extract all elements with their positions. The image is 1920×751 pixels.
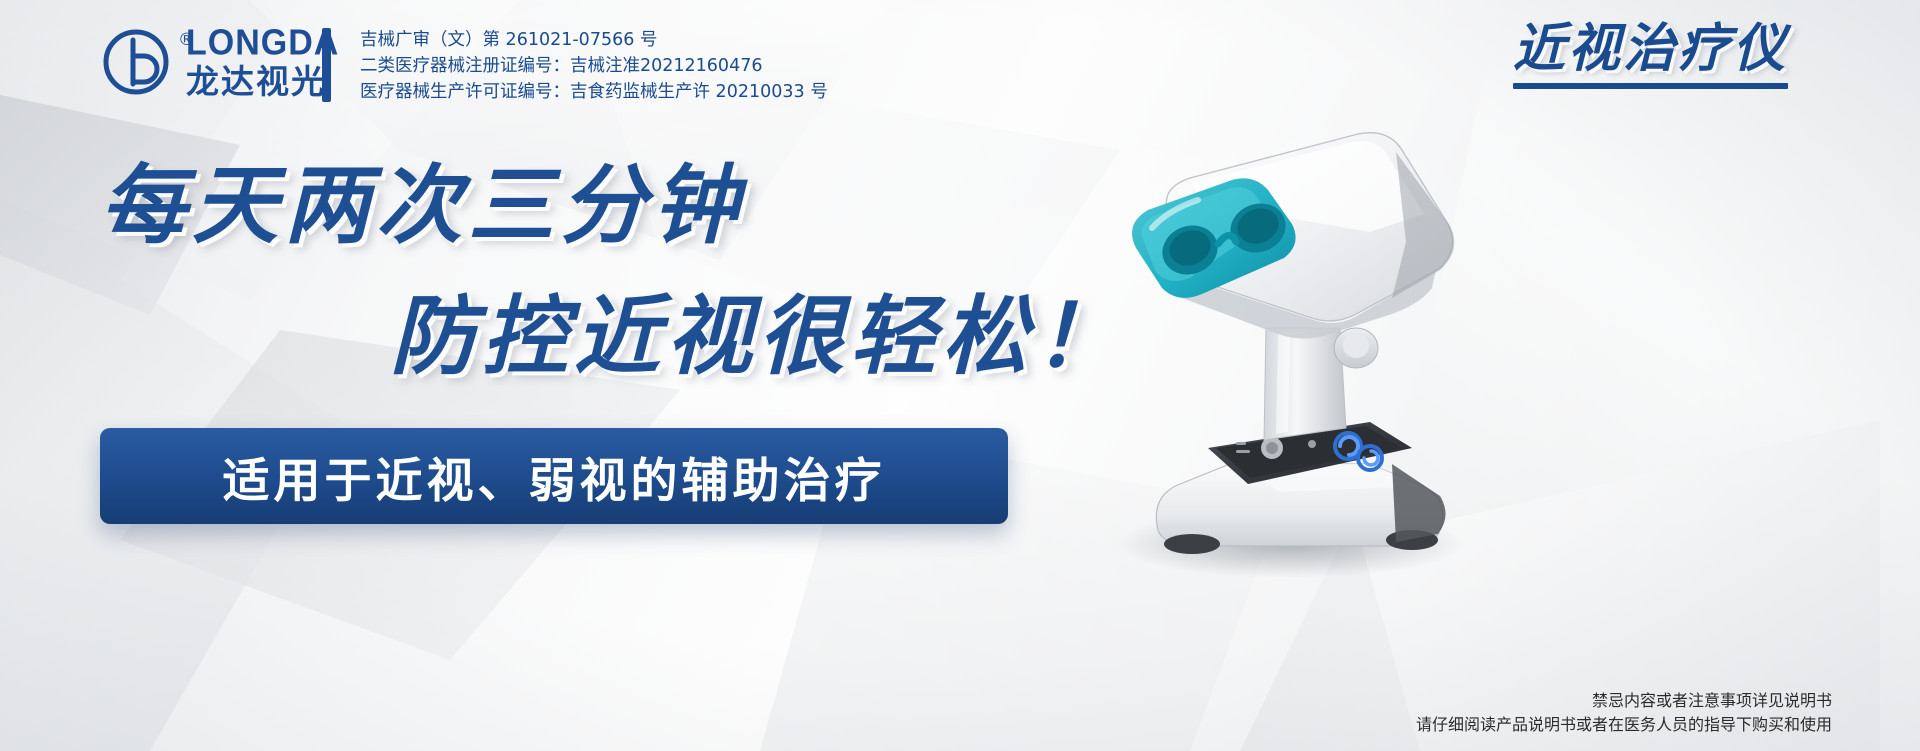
product-title: 近视治疗仪	[1513, 22, 1788, 77]
brand-name-en: LONGDA	[186, 25, 339, 61]
headline-block: 每天两次三分钟 防控近视很轻松！	[0, 160, 1060, 384]
product-title-block: 近视治疗仪	[1513, 22, 1788, 89]
disclaimer-line-2: 请仔细阅读产品说明书或者在医务人员的指导下购买和使用	[1416, 713, 1832, 737]
product-title-underline	[1513, 83, 1788, 89]
disclaimer-line-1: 禁忌内容或者注意事项详见说明书	[1416, 689, 1832, 713]
headline-line-2: 防控近视很轻松！	[390, 291, 1060, 384]
cta-banner[interactable]: 适用于近视、弱视的辅助治疗	[100, 428, 1008, 524]
headline-line-1: 每天两次三分钟	[100, 160, 1060, 253]
header-divider	[322, 28, 331, 102]
registered-trademark-icon: ®	[178, 30, 195, 50]
cta-label: 适用于近视、弱视的辅助治疗	[223, 442, 886, 511]
myopia-treatment-device-icon	[1040, 92, 1540, 592]
approval-line-1: 吉械广审（文）第 261021-07566 号	[360, 28, 828, 52]
approval-line-3: 医疗器械生产许可证编号：吉食药监械生产许 20210033 号	[360, 80, 828, 104]
brand-name-cn: 龙达视光	[186, 65, 339, 98]
brand-logo: LONGDA 龙达视光	[100, 26, 339, 98]
disclaimer-block: 禁忌内容或者注意事项详见说明书 请仔细阅读产品说明书或者在医务人员的指导下购买和…	[1416, 689, 1832, 737]
approval-line-2: 二类医疗器械注册证编号：吉械注准20212160476	[360, 54, 828, 78]
approval-numbers: 吉械广审（文）第 261021-07566 号 二类医疗器械注册证编号：吉械注准…	[360, 28, 828, 104]
longda-circle-d-logo-icon	[100, 26, 172, 98]
promotional-banner: LONGDA 龙达视光 ® 吉械广审（文）第 261021-07566 号 二类…	[0, 0, 1920, 751]
